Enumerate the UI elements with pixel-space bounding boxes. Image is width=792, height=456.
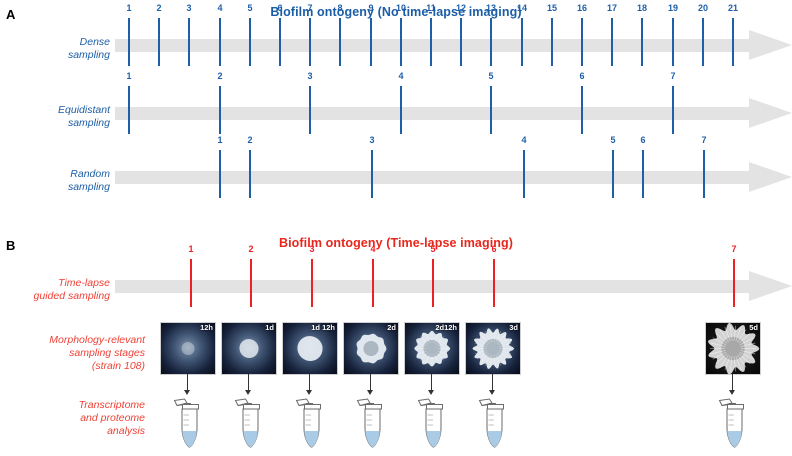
row-label-transcriptome-proteome-analysis: Transcriptome and proteome analysis bbox=[10, 399, 145, 438]
random-tick-4 bbox=[523, 150, 525, 198]
eppendorf-tube-icon bbox=[416, 398, 446, 448]
eppendorf-tube-icon bbox=[717, 398, 747, 448]
equidistant-tick-label-6: 6 bbox=[579, 72, 584, 81]
microscopy-time-stamp: 1d bbox=[265, 324, 274, 332]
random-tick-7 bbox=[703, 150, 705, 198]
dense-tick-label-11: 11 bbox=[426, 4, 436, 13]
row-label-line1: Dense bbox=[10, 36, 110, 49]
random-tick-1 bbox=[219, 150, 221, 198]
row-label-line1: Random bbox=[10, 168, 110, 181]
dense-tick-label-6: 6 bbox=[277, 4, 282, 13]
random-tick-label-5: 5 bbox=[610, 136, 615, 145]
arrow-head bbox=[367, 390, 373, 395]
row-label-line2: sampling bbox=[10, 49, 110, 62]
random-tick-label-2: 2 bbox=[247, 136, 252, 145]
down-arrow-icon bbox=[487, 374, 498, 396]
arrow-head bbox=[306, 390, 312, 395]
row-label-line2: sampling bbox=[10, 117, 110, 130]
time-lapse-tick-label-1: 1 bbox=[188, 245, 193, 254]
down-arrow-icon bbox=[243, 374, 254, 396]
dense-tick-label-16: 16 bbox=[577, 4, 587, 13]
dense-tick-3 bbox=[188, 18, 190, 66]
time-lapse-tick-2 bbox=[250, 259, 252, 307]
dense-tick-label-10: 10 bbox=[396, 4, 406, 13]
dense-tick-label-1: 1 bbox=[126, 4, 131, 13]
equidistant-tick-6 bbox=[581, 86, 583, 134]
equidistant-tick-3 bbox=[309, 86, 311, 134]
random-tick-label-3: 3 bbox=[369, 136, 374, 145]
row-label-line1: Time-lapse bbox=[10, 277, 110, 290]
dense-tick-2 bbox=[158, 18, 160, 66]
random-tick-5 bbox=[612, 150, 614, 198]
arrow-shaft bbox=[370, 374, 371, 391]
equidistant-tick-5 bbox=[490, 86, 492, 134]
arrow-shaft bbox=[309, 374, 310, 391]
equidistant-tick-label-5: 5 bbox=[488, 72, 493, 81]
time-lapse-tick-label-4: 4 bbox=[370, 245, 375, 254]
equidistant-tick-label-7: 7 bbox=[670, 72, 675, 81]
dense-tick-10 bbox=[400, 18, 402, 66]
dense-tick-label-17: 17 bbox=[607, 4, 617, 13]
arrow-head bbox=[184, 390, 190, 395]
dense-tick-label-5: 5 bbox=[247, 4, 252, 13]
timeline-dense-sampling: 123456789101112131415161718192021 bbox=[115, 30, 792, 60]
random-tick-label-6: 6 bbox=[640, 136, 645, 145]
dense-tick-label-3: 3 bbox=[186, 4, 191, 13]
dense-tick-6 bbox=[279, 18, 281, 66]
row-label-line1: Equidistant bbox=[10, 104, 110, 117]
eppendorf-tube-icon bbox=[172, 398, 202, 448]
equidistant-tick-4 bbox=[400, 86, 402, 134]
row-label-line1: Morphology-relevant bbox=[0, 334, 145, 347]
time-lapse-tick-5 bbox=[432, 259, 434, 307]
row-label-line2: and proteome bbox=[10, 412, 145, 425]
dense-tick-5 bbox=[249, 18, 251, 66]
time-lapse-tick-3 bbox=[311, 259, 313, 307]
dense-tick-label-9: 9 bbox=[368, 4, 373, 13]
timeline-bar bbox=[115, 171, 749, 184]
arrow-head bbox=[729, 390, 735, 395]
microscopy-time-stamp: 3d bbox=[509, 324, 518, 332]
microscopy-image-5d: 5d bbox=[705, 322, 761, 375]
arrow-head bbox=[489, 390, 495, 395]
dense-tick-label-2: 2 bbox=[156, 4, 161, 13]
down-arrow-icon bbox=[426, 374, 437, 396]
panel-b-title: Biofilm ontogeny (Time-lapse imaging) bbox=[0, 237, 792, 250]
microscopy-time-stamp: 1d 12h bbox=[311, 324, 335, 332]
timeline-equidistant-sampling: 1234567 bbox=[115, 98, 792, 128]
dense-tick-label-7: 7 bbox=[307, 4, 312, 13]
row-label-line3: analysis bbox=[10, 425, 145, 438]
arrow-head bbox=[428, 390, 434, 395]
time-lapse-tick-label-2: 2 bbox=[248, 245, 253, 254]
random-tick-label-7: 7 bbox=[701, 136, 706, 145]
row-label-line1: Transcriptome bbox=[10, 399, 145, 412]
dense-tick-4 bbox=[219, 18, 221, 66]
dense-tick-7 bbox=[309, 18, 311, 66]
equidistant-tick-7 bbox=[672, 86, 674, 134]
dense-tick-15 bbox=[551, 18, 553, 66]
time-lapse-tick-label-5: 5 bbox=[430, 245, 435, 254]
random-tick-label-4: 4 bbox=[521, 136, 526, 145]
timeline-time-lapse-guided-sampling: 1234567 bbox=[115, 271, 792, 301]
time-lapse-tick-label-3: 3 bbox=[309, 245, 314, 254]
random-tick-6 bbox=[642, 150, 644, 198]
down-arrow-icon bbox=[727, 374, 738, 396]
row-label-line2: sampling bbox=[10, 181, 110, 194]
dense-tick-17 bbox=[611, 18, 613, 66]
dense-tick-label-13: 13 bbox=[486, 4, 496, 13]
time-lapse-tick-4 bbox=[372, 259, 374, 307]
equidistant-tick-2 bbox=[219, 86, 221, 134]
dense-tick-18 bbox=[641, 18, 643, 66]
dense-tick-9 bbox=[370, 18, 372, 66]
dense-tick-label-8: 8 bbox=[337, 4, 342, 13]
microscopy-time-stamp: 2d bbox=[387, 324, 396, 332]
equidistant-tick-label-2: 2 bbox=[217, 72, 222, 81]
arrow-shaft bbox=[187, 374, 188, 391]
row-label-random-sampling: Random sampling bbox=[10, 168, 110, 194]
dense-tick-label-15: 15 bbox=[547, 4, 557, 13]
row-label-line2: guided sampling bbox=[10, 290, 110, 303]
dense-tick-label-19: 19 bbox=[668, 4, 678, 13]
row-label-equidistant-sampling: Equidistant sampling bbox=[10, 104, 110, 130]
timeline-arrowhead-icon bbox=[749, 30, 792, 60]
timeline-bar bbox=[115, 39, 749, 52]
random-tick-label-1: 1 bbox=[217, 136, 222, 145]
arrow-shaft bbox=[248, 374, 249, 391]
figure-root: A Biofilm ontogeny (No time-lapse imagin… bbox=[0, 0, 792, 456]
dense-tick-11 bbox=[430, 18, 432, 66]
dense-tick-1 bbox=[128, 18, 130, 66]
row-label-morphology-sampling-stages: Morphology-relevant sampling stages (str… bbox=[0, 334, 145, 373]
microscopy-time-stamp: 2d12h bbox=[435, 324, 457, 332]
microscopy-image-1d: 1d bbox=[221, 322, 277, 375]
dense-tick-20 bbox=[702, 18, 704, 66]
dense-tick-16 bbox=[581, 18, 583, 66]
eppendorf-tube-icon bbox=[233, 398, 263, 448]
down-arrow-icon bbox=[304, 374, 315, 396]
random-tick-3 bbox=[371, 150, 373, 198]
arrow-shaft bbox=[431, 374, 432, 391]
dense-tick-label-18: 18 bbox=[637, 4, 647, 13]
arrow-shaft bbox=[492, 374, 493, 391]
microscopy-time-stamp: 5d bbox=[749, 324, 758, 332]
microscopy-image-2d: 2d bbox=[343, 322, 399, 375]
equidistant-tick-label-3: 3 bbox=[307, 72, 312, 81]
row-label-dense-sampling: Dense sampling bbox=[10, 36, 110, 62]
microscopy-time-stamp: 12h bbox=[200, 324, 213, 332]
time-lapse-tick-7 bbox=[733, 259, 735, 307]
dense-tick-label-21: 21 bbox=[728, 4, 738, 13]
time-lapse-tick-1 bbox=[190, 259, 192, 307]
timeline-random-sampling: 1234567 bbox=[115, 162, 792, 192]
dense-tick-14 bbox=[521, 18, 523, 66]
dense-tick-label-4: 4 bbox=[217, 4, 222, 13]
timeline-arrowhead-icon bbox=[749, 271, 792, 301]
down-arrow-icon bbox=[182, 374, 193, 396]
dense-tick-19 bbox=[672, 18, 674, 66]
dense-tick-label-20: 20 bbox=[698, 4, 708, 13]
equidistant-tick-label-4: 4 bbox=[398, 72, 403, 81]
row-label-line2: sampling stages bbox=[0, 347, 145, 360]
microscopy-image-2d12h: 2d12h bbox=[404, 322, 460, 375]
microscopy-image-1d12h: 1d 12h bbox=[282, 322, 338, 375]
arrow-head bbox=[245, 390, 251, 395]
row-label-time-lapse-guided-sampling: Time-lapse guided sampling bbox=[10, 277, 110, 303]
timeline-arrowhead-icon bbox=[749, 162, 792, 192]
dense-tick-label-12: 12 bbox=[456, 4, 466, 13]
random-tick-2 bbox=[249, 150, 251, 198]
eppendorf-tube-icon bbox=[294, 398, 324, 448]
down-arrow-icon bbox=[365, 374, 376, 396]
microscopy-image-3d: 3d bbox=[465, 322, 521, 375]
time-lapse-tick-label-6: 6 bbox=[491, 245, 496, 254]
dense-tick-13 bbox=[490, 18, 492, 66]
dense-tick-21 bbox=[732, 18, 734, 66]
equidistant-tick-1 bbox=[128, 86, 130, 134]
dense-tick-12 bbox=[460, 18, 462, 66]
arrow-shaft bbox=[732, 374, 733, 391]
eppendorf-tube-icon bbox=[355, 398, 385, 448]
eppendorf-tube-icon bbox=[477, 398, 507, 448]
equidistant-tick-label-1: 1 bbox=[126, 72, 131, 81]
dense-tick-8 bbox=[339, 18, 341, 66]
dense-tick-label-14: 14 bbox=[517, 4, 527, 13]
timeline-arrowhead-icon bbox=[749, 98, 792, 128]
time-lapse-tick-6 bbox=[493, 259, 495, 307]
row-label-line3: (strain 108) bbox=[0, 360, 145, 373]
microscopy-image-12h: 12h bbox=[160, 322, 216, 375]
time-lapse-tick-label-7: 7 bbox=[731, 245, 736, 254]
timeline-bar bbox=[115, 107, 749, 120]
